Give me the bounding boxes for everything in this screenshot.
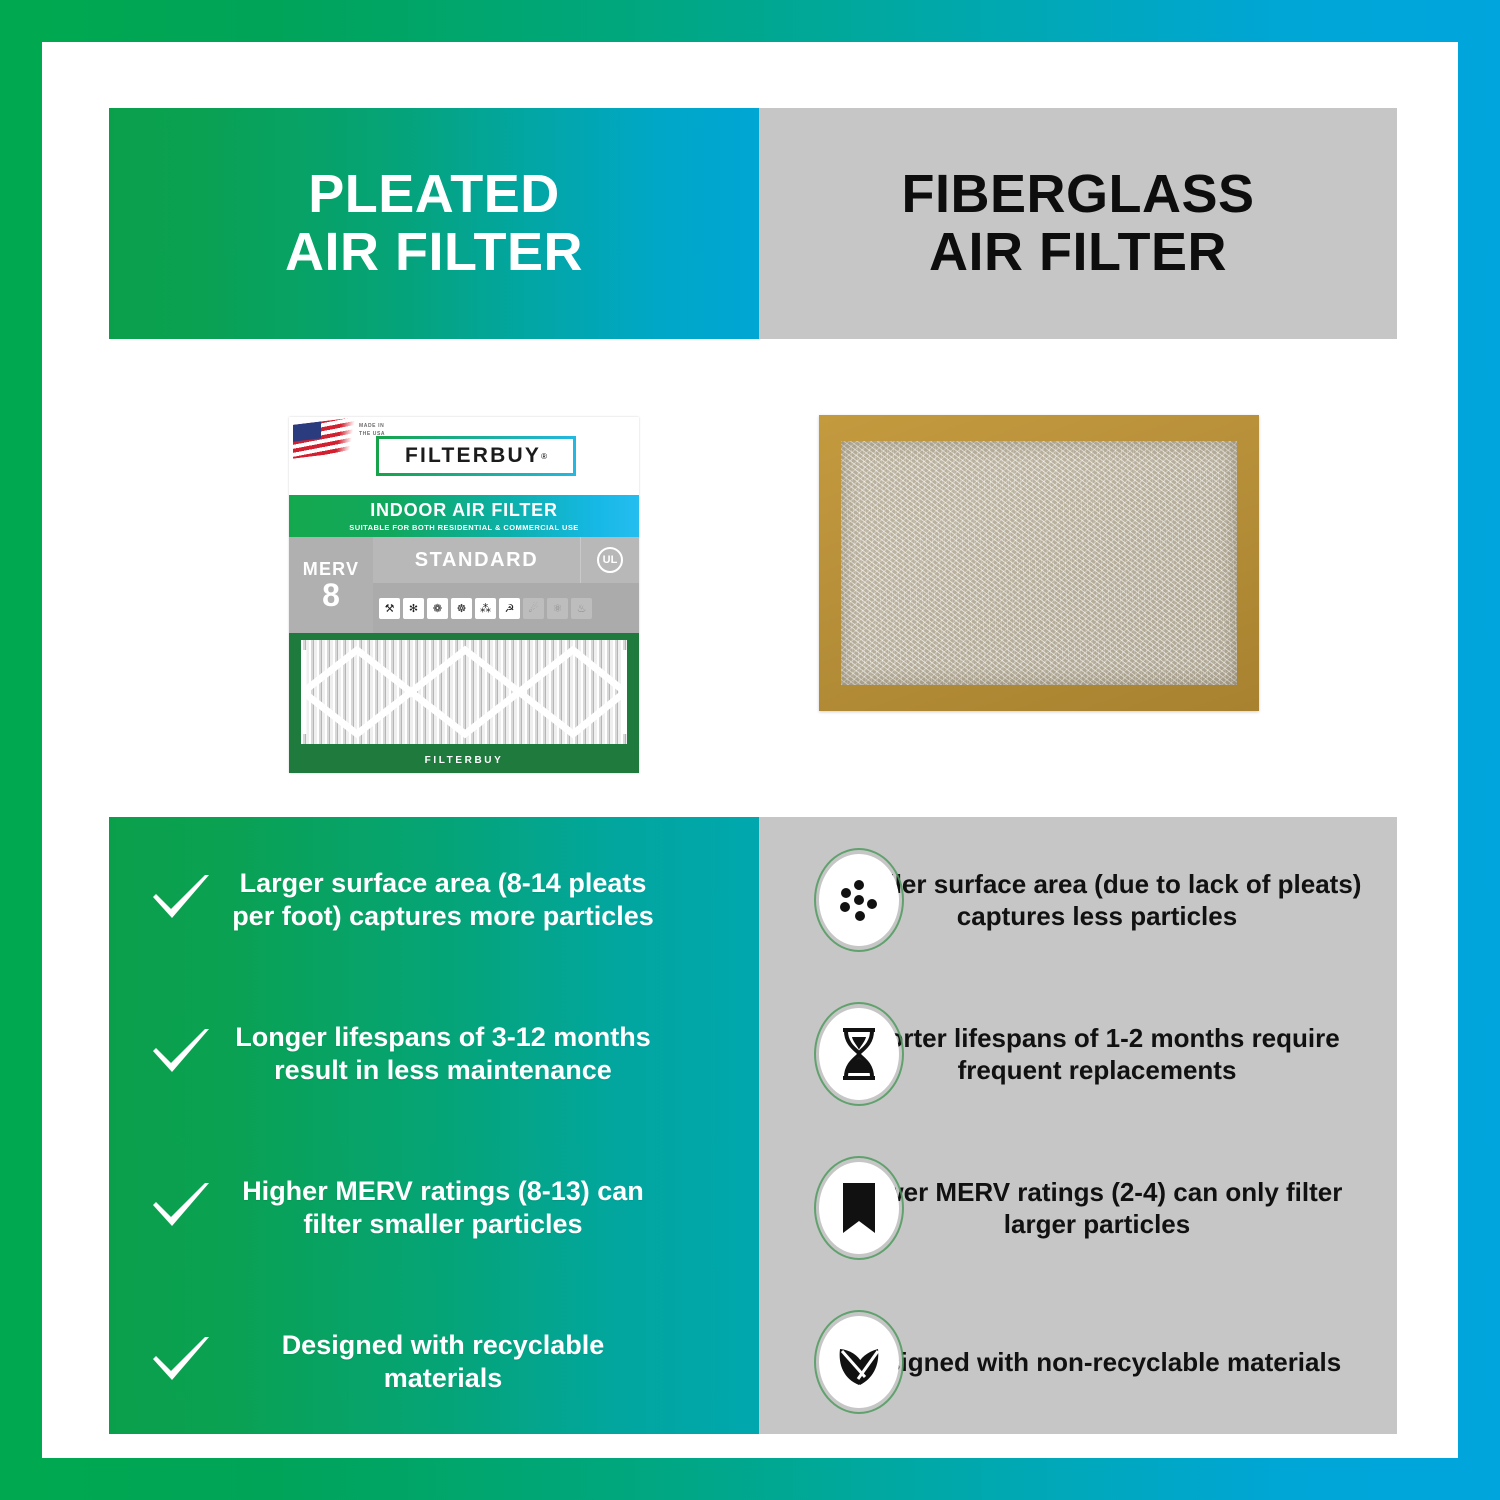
- pleated-filter-package-image: MADE IN THE USA FILTERBUY® INDOOR AIR FI…: [289, 417, 639, 773]
- spec-main: STANDARD UL ⚒✻❁☸⁂☭☄⚛♨: [373, 537, 639, 633]
- dust-lint-icon: ⚒: [379, 598, 400, 619]
- fiberglass-filter-image: [819, 415, 1259, 711]
- checkmark-icon: [143, 1027, 219, 1081]
- header-fiberglass-title: FIBERGLASS AIR FILTER: [901, 166, 1254, 280]
- fiberglass-drawback-text: Shorter lifespans of 1-2 months require …: [831, 1022, 1363, 1086]
- filtration-icon-strip: ⚒✻❁☸⁂☭☄⚛♨: [373, 583, 639, 633]
- odor-icon: ♨: [571, 598, 592, 619]
- comparison-row-left: Designed with recyclable materials: [109, 1285, 759, 1439]
- comparison-row: Higher MERV ratings (8-13) can filter sm…: [109, 1131, 1397, 1285]
- spec-main-top: STANDARD UL: [373, 537, 639, 583]
- comparison-row: Larger surface area (8-14 pleats per foo…: [109, 823, 1397, 977]
- comparison-rows: Larger surface area (8-14 pleats per foo…: [109, 817, 1397, 1434]
- comparison-badge: [814, 848, 904, 952]
- comparison-row: Longer lifespans of 3-12 months result i…: [109, 977, 1397, 1131]
- fiberglass-drawback-text: Designed with non-recyclable materials: [831, 1346, 1363, 1378]
- virus-icon: ⚛: [547, 598, 568, 619]
- dust-mites-icon: ✻: [403, 598, 424, 619]
- package-indoor-band: INDOOR AIR FILTER SUITABLE FOR BOTH RESI…: [289, 495, 639, 537]
- bacteria-icon: ☄: [523, 598, 544, 619]
- package-filter-view: FILTERBUY: [289, 633, 639, 773]
- fiberglass-product-cell: [759, 339, 1397, 817]
- comparison-badge: [814, 1156, 904, 1260]
- header-fiberglass-panel: FIBERGLASS AIR FILTER: [759, 108, 1397, 339]
- header-pleated-panel: PLEATED AIR FILTER: [109, 108, 759, 339]
- registered-mark: ®: [541, 452, 547, 461]
- comparison-row-left: Longer lifespans of 3-12 months result i…: [109, 977, 759, 1131]
- comparison-row-left: Higher MERV ratings (8-13) can filter sm…: [109, 1131, 759, 1285]
- fiberglass-drawback-text: Smaller surface area (due to lack of ple…: [831, 868, 1363, 932]
- fiberglass-drawback-text: Lower MERV ratings (2-4) can only filter…: [831, 1176, 1363, 1240]
- mold-icon: ☸: [451, 598, 472, 619]
- package-header: MADE IN THE USA FILTERBUY®: [289, 417, 639, 495]
- wire-support-grid: [301, 640, 627, 744]
- grade-label: STANDARD: [373, 537, 581, 583]
- pleated-product-cell: MADE IN THE USA FILTERBUY® INDOOR AIR FI…: [109, 339, 759, 817]
- particles-icon: [819, 854, 899, 946]
- header-pleated-title: PLEATED AIR FILTER: [285, 166, 583, 280]
- usa-flag-icon: [293, 417, 355, 459]
- infographic-sheet: PLEATED AIR FILTER FIBERGLASS AIR FILTER…: [42, 42, 1458, 1458]
- package-spec-strip: MERV 8 STANDARD UL ⚒✻❁☸⁂☭☄⚛♨: [289, 537, 639, 633]
- made-in-usa-label: MADE IN THE USA: [359, 423, 385, 438]
- pleated-media: [301, 640, 627, 744]
- fiberglass-media: [841, 441, 1237, 685]
- package-bottom-brand: FILTERBUY: [289, 755, 639, 766]
- pleated-benefit-text: Designed with recyclable materials: [219, 1329, 667, 1395]
- merv-block: MERV 8: [289, 537, 373, 633]
- checkmark-icon: [143, 873, 219, 927]
- comparison-row-left: Larger surface area (8-14 pleats per foo…: [109, 823, 759, 977]
- flag-canton: [293, 421, 321, 441]
- pollen-icon: ❁: [427, 598, 448, 619]
- pleated-benefit-text: Higher MERV ratings (8-13) can filter sm…: [219, 1175, 667, 1241]
- pet-dander-icon: ☭: [499, 598, 520, 619]
- package-band-title: INDOOR AIR FILTER: [370, 500, 558, 521]
- comparison-row: Designed with recyclable materialsDesign…: [109, 1285, 1397, 1439]
- merv-value: 8: [322, 580, 340, 610]
- smoke-icon: ⁂: [475, 598, 496, 619]
- ul-circle-icon: UL: [597, 547, 623, 573]
- pleated-benefit-text: Longer lifespans of 3-12 months result i…: [219, 1021, 667, 1087]
- header-band: PLEATED AIR FILTER FIBERGLASS AIR FILTER: [109, 108, 1397, 339]
- hourglass-icon: [819, 1008, 899, 1100]
- leaf-icon: [819, 1316, 899, 1408]
- outer-gradient-frame: PLEATED AIR FILTER FIBERGLASS AIR FILTER…: [0, 0, 1500, 1500]
- comparison-badge: [814, 1002, 904, 1106]
- checkmark-icon: [143, 1181, 219, 1235]
- bookmark-icon: [819, 1162, 899, 1254]
- comparison-badge: [814, 1310, 904, 1414]
- filterbuy-logo-text: FILTERBUY: [405, 444, 541, 468]
- package-band-subtitle: SUITABLE FOR BOTH RESIDENTIAL & COMMERCI…: [349, 523, 578, 532]
- checkmark-icon: [143, 1335, 219, 1389]
- ul-listed-mark: UL: [581, 537, 639, 583]
- filterbuy-logo: FILTERBUY®: [376, 436, 576, 476]
- product-image-row: MADE IN THE USA FILTERBUY® INDOOR AIR FI…: [109, 339, 1397, 817]
- comparison-section: Larger surface area (8-14 pleats per foo…: [109, 817, 1397, 1434]
- pleated-benefit-text: Larger surface area (8-14 pleats per foo…: [219, 867, 667, 933]
